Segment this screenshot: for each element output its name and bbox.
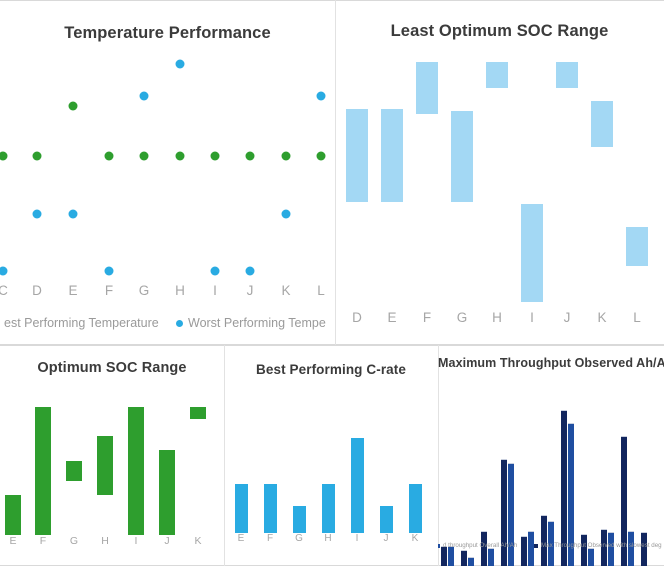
x-axis-label: E [387, 310, 396, 325]
x-axis-label: J [247, 283, 254, 298]
scatter-point [140, 152, 149, 161]
legend-label: d throughput Overall Ah/Ah [443, 542, 517, 549]
legend-marker-square [438, 544, 440, 548]
range-bar [159, 450, 175, 535]
x-axis-label: F [423, 310, 431, 325]
value-bar [409, 484, 422, 533]
scatter-point [211, 152, 220, 161]
x-axis-label: G [457, 310, 468, 325]
scatter-point [246, 267, 255, 276]
x-axis-label: D [32, 283, 42, 298]
range-bar [190, 407, 206, 419]
range-bar [556, 62, 578, 88]
bar-plot-area-crate [224, 385, 438, 533]
scatter-point [282, 209, 291, 218]
legend-temperature[interactable]: est Performing TemperatureWorst Performi… [0, 316, 335, 334]
range-bar [521, 204, 543, 302]
scatter-point [282, 152, 291, 161]
scatter-point [33, 152, 42, 161]
x-axis-label: E [68, 283, 77, 298]
panel-top-rule [0, 345, 224, 346]
scatter-point [105, 267, 114, 276]
x-axis-label: G [295, 533, 303, 544]
scatter-point [246, 152, 255, 161]
legend-marker-square [534, 544, 538, 548]
x-axis-label: G [70, 535, 78, 547]
x-axis-least-optimum: DEFGHIJKL [335, 310, 664, 330]
range-bar-plot-area-least-optimum [335, 52, 664, 310]
grouped-bar-plot-area-throughput [438, 375, 664, 566]
panel-title-temperature-performance: Temperature Performance [0, 24, 335, 43]
x-axis-label: I [530, 310, 534, 325]
x-axis-label: H [175, 283, 185, 298]
x-axis-label: K [194, 535, 201, 547]
x-axis-label: L [317, 283, 325, 298]
range-bar [381, 109, 403, 202]
x-axis-label: H [492, 310, 502, 325]
panel-title-maximum-throughput: Maximum Throughput Observed Ah/Ah [438, 356, 664, 370]
x-axis-label: G [139, 283, 150, 298]
panel-top-rule [335, 0, 664, 1]
range-bar [486, 62, 508, 88]
x-axis-optimum: EFGHIJK [0, 535, 224, 553]
scatter-point [176, 152, 185, 161]
x-axis-label: H [324, 533, 331, 544]
legend-label: Worst Performing Tempe [188, 316, 326, 330]
panel-top-rule [438, 345, 664, 346]
legend-marker-dot [176, 320, 183, 327]
scatter-point [0, 152, 8, 161]
x-axis-label: L [633, 310, 641, 325]
range-bar [451, 111, 473, 201]
x-axis-label: E [238, 533, 245, 544]
value-bar [380, 506, 393, 533]
x-axis-label: F [40, 535, 46, 547]
panel-temperature-performance[interactable]: Temperature Performance CDEFGHIJKL est P… [0, 0, 335, 345]
x-axis-temperature: CDEFGHIJKL [0, 283, 335, 303]
grouped-bar-secondary [468, 557, 474, 566]
scatter-point [317, 152, 326, 161]
dashboard: Temperature Performance CDEFGHIJKL est P… [0, 0, 664, 566]
x-axis-crate: EFGHIJK [224, 533, 438, 551]
x-axis-label: J [164, 535, 169, 547]
range-bar [66, 461, 82, 481]
range-bar [626, 227, 648, 266]
value-bar [264, 484, 277, 533]
range-bar [97, 436, 113, 495]
legend-throughput[interactable]: d throughput Overall Ah/AhMax Throughput… [438, 542, 664, 554]
scatter-point [105, 152, 114, 161]
range-bar [591, 101, 613, 147]
scatter-point [140, 92, 149, 101]
range-bar [128, 407, 144, 535]
x-axis-label: K [281, 283, 290, 298]
legend-item[interactable]: Worst Performing Tempe [176, 316, 326, 330]
panel-least-optimum-soc-range[interactable]: Least Optimum SOC Range DEFGHIJKL [335, 0, 664, 345]
x-axis-label: J [384, 533, 389, 544]
x-axis-label: K [412, 533, 419, 544]
panel-title-least-optimum-soc-range: Least Optimum SOC Range [335, 22, 664, 41]
scatter-point [33, 209, 42, 218]
range-bar [416, 62, 438, 114]
x-axis-label: J [564, 310, 571, 325]
x-axis-label: H [101, 535, 109, 547]
range-bar-plot-area-optimum [0, 381, 224, 535]
x-axis-label: I [356, 533, 359, 544]
x-axis-label: C [0, 283, 8, 298]
panel-top-rule [0, 0, 335, 1]
scatter-point [176, 60, 185, 69]
panel-top-rule [224, 345, 438, 346]
scatter-point [211, 267, 220, 276]
scatter-point [317, 92, 326, 101]
value-bar [322, 484, 335, 533]
panel-title-optimum-soc-range: Optimum SOC Range [0, 360, 224, 376]
range-bar [5, 495, 21, 535]
x-axis-label: F [267, 533, 273, 544]
legend-item[interactable]: d throughput Overall Ah/Ah [438, 542, 517, 549]
panel-title-best-performing-crate: Best Performing C-rate [224, 362, 438, 377]
x-axis-label: I [213, 283, 217, 298]
range-bar [35, 407, 51, 535]
scatter-point [69, 101, 78, 110]
legend-item[interactable]: est Performing Temperature [0, 316, 159, 330]
legend-label: est Performing Temperature [4, 316, 159, 330]
x-axis-label: F [105, 283, 113, 298]
panel-maximum-throughput[interactable]: Maximum Throughput Observed Ah/Ah CDEFGH… [438, 345, 664, 566]
legend-label: Max Throughput Observed with slowest deg [541, 542, 662, 549]
value-bar [351, 438, 364, 533]
x-axis-label: K [597, 310, 606, 325]
scatter-point [69, 209, 78, 218]
value-bar [293, 506, 306, 533]
x-axis-label: I [135, 535, 138, 547]
x-axis-label: E [9, 535, 16, 547]
grouped-bar-primary [541, 515, 547, 566]
x-axis-label: D [352, 310, 362, 325]
value-bar [235, 484, 248, 533]
scatter-plot-area-temperature [0, 55, 335, 285]
panel-best-performing-crate[interactable]: Best Performing C-rate EFGHIJK [224, 345, 438, 566]
scatter-point [0, 267, 8, 276]
legend-item[interactable]: Max Throughput Observed with slowest deg [534, 542, 662, 549]
panel-optimum-soc-range[interactable]: Optimum SOC Range EFGHIJK [0, 345, 224, 566]
range-bar [346, 109, 368, 202]
